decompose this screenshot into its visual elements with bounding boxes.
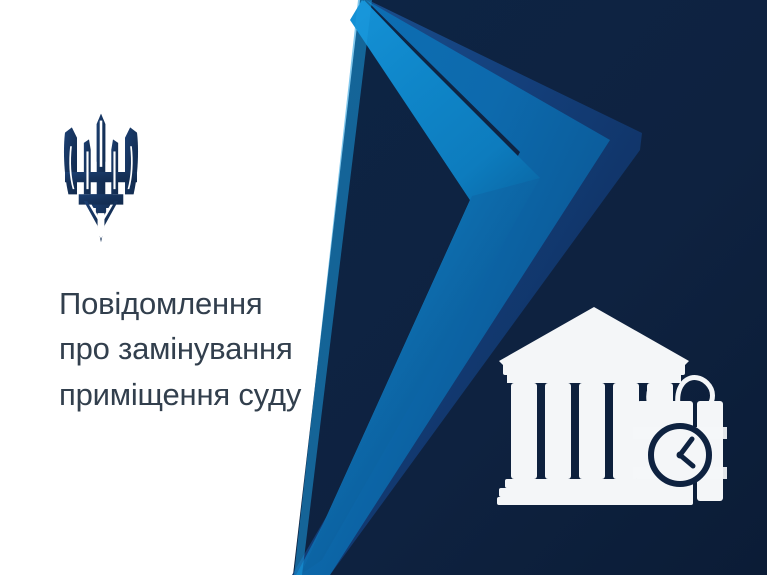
ukrainian-trident-icon: [58, 112, 144, 244]
headline-text: Повідомлення про замінування приміщення …: [59, 281, 349, 417]
left-content-column: Повідомлення про замінування приміщення …: [0, 0, 350, 575]
banner-root: Повідомлення про замінування приміщення …: [0, 0, 767, 575]
courthouse-bomb-icon-group: [497, 305, 752, 510]
bomb-with-timer-icon: [633, 378, 727, 501]
